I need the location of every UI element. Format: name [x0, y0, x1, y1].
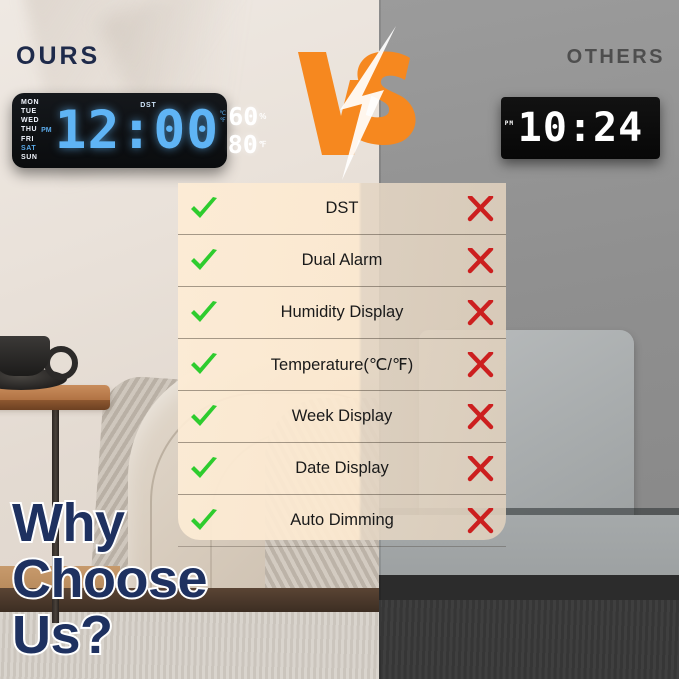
humidity-unit: % [259, 112, 266, 121]
others-clock-display: 10:24PM [501, 97, 660, 159]
others-heading: Others [567, 38, 665, 71]
others-cross-icon [454, 352, 506, 378]
feature-label: Dual Alarm [230, 251, 454, 270]
others-cross-icon [454, 248, 506, 274]
temperature-unit: ℉ [259, 140, 267, 149]
ours-check-icon [178, 196, 230, 222]
time-readout: DST 12:00 [55, 104, 220, 157]
weekday-sun: SUN [21, 154, 39, 162]
weekday-tue: TUE [21, 108, 39, 116]
weekday-fri: FRI [21, 136, 39, 144]
others-meridiem-indicator: PM [505, 104, 514, 144]
others-cross-icon [454, 508, 506, 534]
others-cross-icon [454, 300, 506, 326]
tagline-line-2: Choose [12, 551, 207, 607]
others-cross-icon [454, 196, 506, 222]
feature-row: Week Display [178, 391, 506, 443]
feature-row: Temperature(℃/℉) [178, 339, 506, 391]
rug-gray [379, 600, 679, 679]
weekday-sat: SAT [21, 145, 39, 153]
time-digits: 12:00 [55, 104, 220, 157]
feature-list: DST Dual Alarm Humidity Display [178, 183, 506, 540]
weekday-thu: THU [21, 126, 39, 134]
feature-row: Date Display [178, 443, 506, 495]
tagline: Why Choose Us? [12, 495, 207, 663]
ours-heading: Ours [16, 31, 100, 73]
sensor-column: ℃℉ 60 % 80 ℉ [219, 104, 266, 157]
ours-check-icon [178, 404, 230, 430]
temperature-readout: 80 ℉ [219, 132, 266, 157]
tagline-line-3: Us? [12, 607, 207, 663]
feature-label: Date Display [230, 459, 454, 478]
meridiem-indicator: PM [41, 127, 52, 134]
feature-label: Temperature(℃/℉) [230, 355, 454, 375]
cf-unit-icon: ℃℉ [219, 110, 226, 124]
ours-clock-display: MON TUE WED THU FRI SAT SUN PM DST 12:00… [12, 93, 227, 168]
feature-row: Dual Alarm [178, 235, 506, 287]
vs-badge [292, 30, 422, 175]
ours-check-icon [178, 300, 230, 326]
feature-label: Week Display [230, 407, 454, 426]
ours-check-icon [178, 352, 230, 378]
ours-check-icon [178, 248, 230, 274]
weekday-column: MON TUE WED THU FRI SAT SUN [18, 99, 39, 162]
feature-row: Humidity Display [178, 287, 506, 339]
feature-label: Humidity Display [230, 303, 454, 322]
others-cross-icon [454, 456, 506, 482]
feature-label: Auto Dimming [230, 511, 454, 530]
feature-label: DST [230, 199, 454, 218]
side-table-edge [0, 400, 110, 410]
humidity-readout: ℃℉ 60 % [219, 104, 266, 129]
others-time-digits: 10:24PM [518, 108, 643, 148]
comparison-infographic: Ours Others MON TUE WED THU FRI SAT SUN … [0, 0, 679, 679]
temperature-value: 80 [228, 132, 258, 157]
weekday-mon: MON [21, 99, 39, 107]
others-cross-icon [454, 404, 506, 430]
tagline-line-1: Why [12, 495, 207, 551]
feature-row: DST [178, 183, 506, 235]
humidity-value: 60 [228, 104, 258, 129]
coffee-cup [0, 336, 50, 376]
dst-indicator: DST [140, 102, 156, 109]
weekday-wed: WED [21, 117, 39, 125]
ours-check-icon [178, 456, 230, 482]
feature-row: Auto Dimming [178, 495, 506, 547]
